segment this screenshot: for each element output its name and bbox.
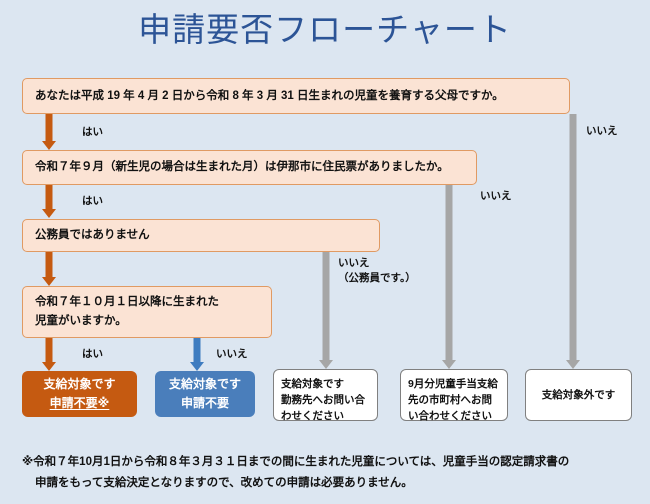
question-box-2-text: 令和７年９月（新生児の場合は生まれた月）は伊那市に住民票がありましたか。 xyxy=(35,158,464,177)
arrow-shaft xyxy=(46,114,53,141)
arrow-q3-no xyxy=(318,252,334,369)
arrow-q4-no xyxy=(189,338,205,371)
arrow-head xyxy=(319,360,333,369)
question-box-3: 公務員ではありません xyxy=(22,219,380,252)
arrow-q4-yes xyxy=(41,338,57,371)
arrow-label-q3-no: いいえ （公務員です。） xyxy=(338,256,416,286)
result-white1-line2: 勤務先へお問い合 xyxy=(281,394,365,406)
result-white2-line2: 先の市町村へお問 xyxy=(408,394,492,406)
arrow-head xyxy=(190,362,204,371)
arrow-q2-no xyxy=(441,185,457,369)
arrow-head xyxy=(42,277,56,286)
question-box-4: 令和７年１０月１日以降に生まれた 児童がいますか。 xyxy=(22,286,272,338)
footnote: ※令和７年10月1日から令和８年３月３１日までの間に生まれた児童については、児童… xyxy=(22,452,634,494)
arrow-label-q1-no: いいえ xyxy=(586,124,618,139)
arrow-shaft xyxy=(194,338,201,362)
result-box-white-ineligible: 支給対象外です xyxy=(525,369,632,421)
result-orange-line2: 申請不要※ xyxy=(50,394,110,413)
result-white1-line1: 支給対象です xyxy=(281,378,344,390)
result-orange-line1: 支給対象です xyxy=(43,375,115,394)
result-white3-line1: 支給対象外です xyxy=(542,387,616,403)
arrow-head xyxy=(566,360,580,369)
question-box-1-text: あなたは平成 19 年 4 月 2 日から令和 8 年 3 月 31 日生まれの… xyxy=(35,87,557,106)
question-box-3-text: 公務員ではありません xyxy=(35,226,367,245)
arrow-q1-no xyxy=(565,114,581,369)
arrow-head xyxy=(442,360,456,369)
question-box-4-line2: 児童がいますか。 xyxy=(35,315,127,327)
result-box-white-municipality: 9月分児童手当支給 先の市町村へお問 い合わせください xyxy=(400,369,508,421)
arrow-shaft xyxy=(46,252,53,277)
arrow-label-q4-no: いいえ xyxy=(216,347,248,362)
result-blue-line1: 支給対象です xyxy=(169,375,241,394)
footnote-line1: ※令和７年10月1日から令和８年３月３１日までの間に生まれた児童については、児童… xyxy=(22,456,569,468)
question-box-4-line1: 令和７年１０月１日以降に生まれた xyxy=(35,296,219,308)
arrow-shaft xyxy=(46,338,53,362)
question-box-1: あなたは平成 19 年 4 月 2 日から令和 8 年 3 月 31 日生まれの… xyxy=(22,78,570,114)
footnote-line2: 申請をもって支給決定となりますので、改めての申請は必要ありません。 xyxy=(22,473,634,494)
arrow-shaft xyxy=(46,185,53,209)
arrow-q1-yes xyxy=(41,114,57,150)
arrow-shaft xyxy=(446,185,453,360)
result-box-blue: 支給対象です 申請不要 xyxy=(155,371,255,417)
flowchart-canvas: 申請要否フローチャート あなたは平成 19 年 4 月 2 日から令和 8 年 … xyxy=(0,0,650,504)
arrow-head xyxy=(42,141,56,150)
arrow-label-q2-no: いいえ xyxy=(480,189,512,204)
arrow-label-q2-yes: はい xyxy=(82,194,103,209)
arrow-label-q1-yes: はい xyxy=(82,125,103,140)
result-box-white-employer: 支給対象です 勤務先へお問い合 わせください xyxy=(273,369,378,421)
arrow-label-q4-yes: はい xyxy=(82,347,103,362)
result-white1-line3: わせください xyxy=(281,410,344,422)
arrow-shaft xyxy=(570,114,577,360)
question-box-2: 令和７年９月（新生児の場合は生まれた月）は伊那市に住民票がありましたか。 xyxy=(22,150,477,185)
arrow-shaft xyxy=(323,252,330,360)
arrow-q2-yes xyxy=(41,185,57,218)
result-white2-line3: い合わせください xyxy=(408,410,492,422)
result-white2-line1: 9月分児童手当支給 xyxy=(408,378,498,390)
arrow-head xyxy=(42,209,56,218)
page-title: 申請要否フローチャート xyxy=(0,8,650,52)
result-box-orange: 支給対象です 申請不要※ xyxy=(22,371,137,417)
arrow-head xyxy=(42,362,56,371)
arrow-q3-yes xyxy=(41,252,57,286)
result-blue-line2: 申請不要 xyxy=(181,394,229,413)
